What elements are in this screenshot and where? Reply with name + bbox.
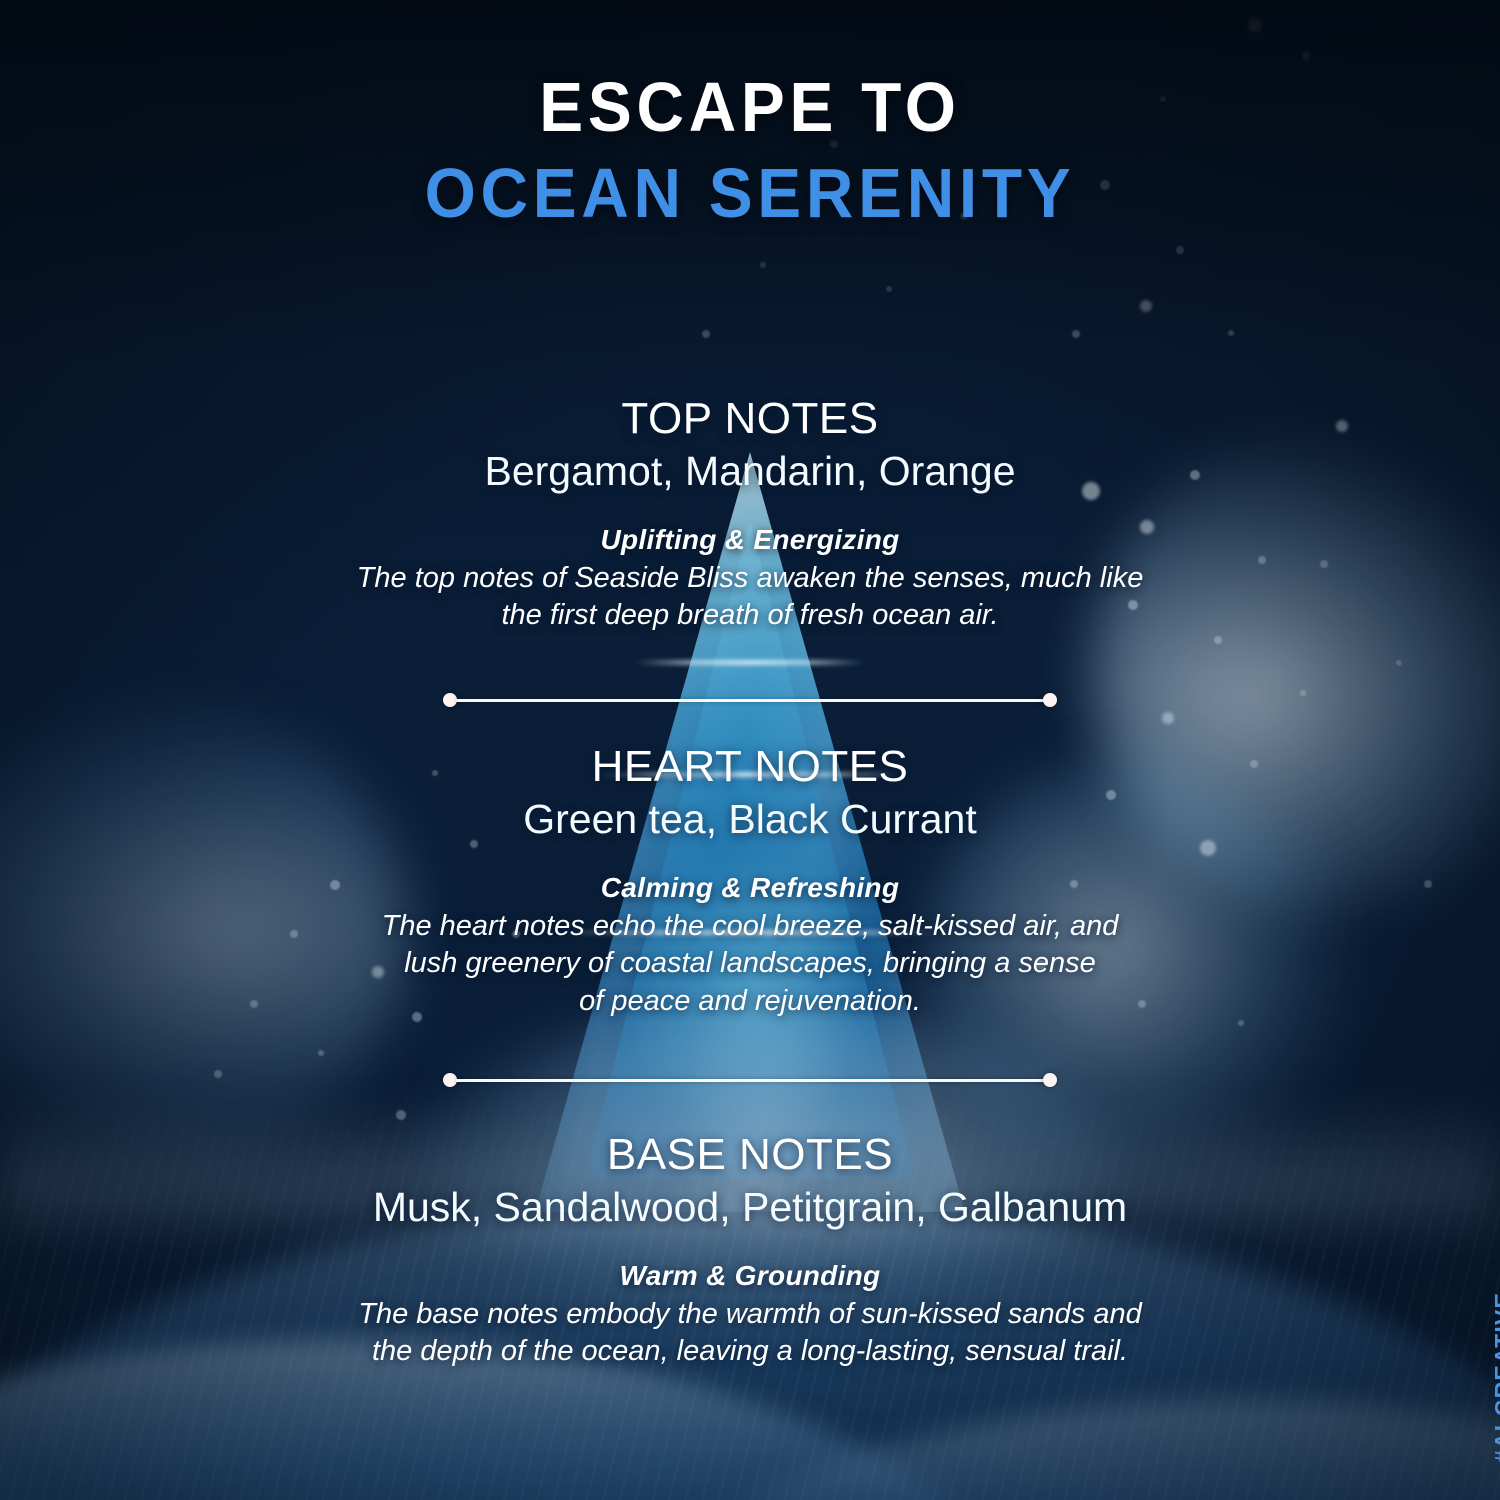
ocean-serenity-poster: ESCAPE TO OCEAN SERENITY TOP NOTES Berga… bbox=[0, 0, 1500, 1500]
watermark-label: #AI CREATIVE bbox=[1490, 1292, 1500, 1463]
top-notes-description: The top notes of Seaside Bliss awaken th… bbox=[190, 560, 1310, 635]
poster-title: ESCAPE TO OCEAN SERENITY bbox=[0, 72, 1500, 228]
divider-dot-right bbox=[1043, 693, 1057, 707]
divider-line bbox=[456, 1079, 1044, 1082]
heart-notes-title: HEART NOTES bbox=[0, 744, 1500, 791]
section-divider-1 bbox=[443, 693, 1057, 707]
heart-notes-mood: Calming & Refreshing bbox=[0, 872, 1500, 904]
section-heart-notes: HEART NOTES Green tea, Black Currant Cal… bbox=[0, 744, 1500, 1021]
section-top-notes: TOP NOTES Bergamot, Mandarin, Orange Upl… bbox=[0, 396, 1500, 635]
divider-line bbox=[456, 699, 1044, 702]
section-divider-2 bbox=[443, 1073, 1057, 1087]
poster-content: ESCAPE TO OCEAN SERENITY TOP NOTES Berga… bbox=[0, 0, 1500, 1500]
base-notes-description: The base notes embody the warmth of sun-… bbox=[190, 1296, 1310, 1371]
divider-dot-left bbox=[443, 693, 457, 707]
base-notes-list: Musk, Sandalwood, Petitgrain, Galbanum bbox=[0, 1185, 1500, 1230]
section-base-notes: BASE NOTES Musk, Sandalwood, Petitgrain,… bbox=[0, 1132, 1500, 1371]
heart-notes-description: The heart notes echo the cool breeze, sa… bbox=[190, 908, 1310, 1021]
top-notes-list: Bergamot, Mandarin, Orange bbox=[0, 449, 1500, 494]
base-notes-title: BASE NOTES bbox=[0, 1132, 1500, 1179]
heart-notes-list: Green tea, Black Currant bbox=[0, 797, 1500, 842]
top-notes-title: TOP NOTES bbox=[0, 396, 1500, 443]
title-line-1: ESCAPE TO bbox=[45, 72, 1455, 142]
top-notes-mood: Uplifting & Energizing bbox=[0, 524, 1500, 556]
title-line-2: OCEAN SERENITY bbox=[45, 158, 1455, 228]
divider-dot-left bbox=[443, 1073, 457, 1087]
divider-dot-right bbox=[1043, 1073, 1057, 1087]
base-notes-mood: Warm & Grounding bbox=[0, 1260, 1500, 1292]
